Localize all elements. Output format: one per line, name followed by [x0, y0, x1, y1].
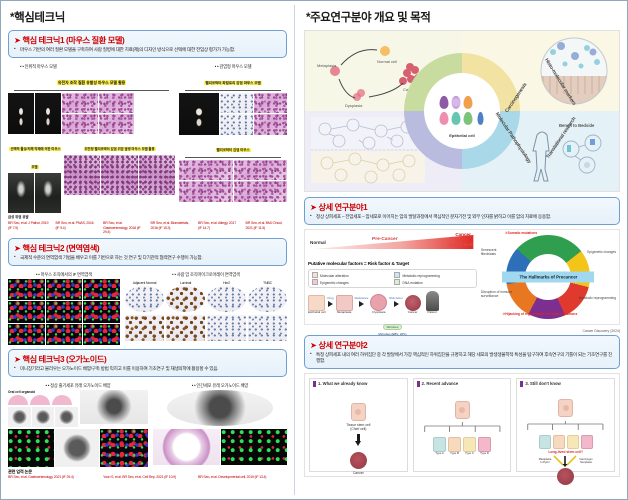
tma-zoom [248, 315, 287, 341]
histology-tile [254, 114, 287, 135]
tma-label-2: Her2 [207, 281, 246, 285]
epithelial-cell [477, 112, 483, 125]
epithelial-cell [440, 112, 449, 125]
tma-label-0: Adjacent Normal [125, 281, 164, 285]
bullet-arrow-icon: ➤ [14, 355, 20, 364]
progression-risk-label: Cancer Risk [449, 242, 473, 247]
step-label: Cancer [405, 311, 421, 315]
microbe-label: Microbes (EBV, HPs) [308, 333, 477, 337]
patient-icon [426, 291, 439, 311]
histology-tile [234, 181, 287, 202]
histology-tile [101, 155, 137, 195]
step-label: Patient [426, 311, 439, 315]
epithelial-cell [452, 112, 461, 125]
subtype-cell-icon [553, 435, 565, 449]
if-micrograph [83, 279, 120, 300]
bullet-arrow-icon: ➤ [310, 341, 316, 350]
organoid-histology [153, 429, 220, 465]
subtype-cell-icon [567, 435, 579, 449]
slide-root: *핵심테크닉 ➤핵심 테크닉1 (마우스 질환 모델) 마우스 기반의 여러 질… [0, 0, 628, 500]
cancer-cell-icon [350, 452, 367, 469]
panel1-top-label: Tissue stem cell(Chief cell) [310, 423, 407, 432]
if-micrograph [83, 301, 120, 322]
step-arrow-label: Drug [328, 297, 334, 300]
tech1-subcaption-1: • 감염형 마우스 모델 [179, 64, 287, 70]
subtype-cell-icon [433, 437, 446, 452]
section-detail2-header: ➤상세 연구분야2 특정 상피세포 내의 여러 하위집단 중 각 발달에서 가장… [304, 335, 620, 369]
organoid-large-brightfield [80, 390, 148, 424]
right-column: *주요연구분야 개요 및 목적 Normal cell [295, 1, 627, 499]
wheel-label-senescent-fibroblasts: Senescent fibroblasts [481, 249, 511, 257]
tech1-subcaption-0: • 인위적 마우스 모델 [20, 64, 175, 70]
mouse-photo [179, 93, 219, 135]
if-micrograph [8, 279, 45, 300]
tech1-references: BR Seo, et al. J Pathol, 2019 (IF 7.9) B… [8, 221, 287, 236]
tech1-histology-grid-right [220, 93, 287, 135]
if-micrograph [8, 301, 45, 322]
organoid-if-image [100, 429, 148, 467]
research-concept-figure: Normal cell Metaplasia Dysplasia Cancer [304, 30, 620, 192]
panel-still-dont-know: 3. Still don't know Long-lived stem cell… [516, 378, 615, 472]
reference-item: BR Seo, et al. Gastroenterology, 2021 (I… [8, 475, 97, 480]
reference-item: BR Seo, et al. Allergy, 2017 (IF 14.7) [198, 221, 240, 236]
step-arrow-label: Resistance [355, 297, 369, 300]
if-micrograph [8, 324, 45, 345]
wheel-label-metabolic-reprogramming: Metabolic reprogramming [579, 297, 616, 301]
wheel-label-disruption-immune: Disruption of immune surveillance [481, 291, 515, 299]
subtype-cell-icon [539, 435, 551, 449]
reference-item: BR Seo, et al. Gastroenterology, 2018 (I… [103, 221, 145, 236]
histology-tile [179, 181, 232, 202]
divider-line [14, 90, 169, 91]
bullet-arrow-icon: ➤ [14, 36, 20, 45]
stemcell-three-panel-figure: 1. What we already know Tissue stem cell… [304, 373, 620, 477]
legend-swatch-epigenetic-changes [312, 279, 318, 285]
tissue-stem-cell-icon [558, 399, 573, 417]
section-tech2-body: 국제적 수준의 면역염색 기법을 배우고 이를 기반으로 하는 것 연구 및 다… [14, 255, 281, 262]
epithelial-cell-label: Epithelial cell [449, 133, 475, 138]
precancer-subtitle: Putative molecular factors = Risk factor… [308, 262, 477, 267]
section-detail2-body: 특정 상피세포 내의 여러 하위집단 중 각 발달에서 가장 핵심적인 하위집단… [310, 352, 614, 365]
section-tech1-heading: ➤핵심 테크닉1 (마우스 질환 모델) [14, 34, 281, 46]
xray-image [35, 173, 61, 213]
subtype-cell-icon [463, 437, 476, 452]
right-panel-title: *주요연구분야 개요 및 목적 [306, 9, 620, 25]
section-tech2-header: ➤핵심 테크닉2 (면역염색) 국제적 수준의 면역염색 기법을 배우고 이를 … [8, 238, 287, 266]
branch-connector-icon [414, 422, 511, 432]
tma-core [125, 286, 164, 312]
branch-connector-icon [517, 421, 614, 430]
tech1-image-row-top [8, 93, 175, 134]
cancer-cell-icon [557, 468, 574, 485]
svg-text:Metaplasia: Metaplasia [317, 63, 337, 68]
progression-label-precancer: Pre-Cancer [372, 237, 398, 242]
tma-zoom [166, 315, 205, 341]
arrow-down-icon [355, 441, 361, 446]
histology-tile [99, 93, 135, 113]
arrow-right-icon [394, 301, 399, 307]
section-tech3-header: ➤핵심 테크닉3 (오가노이드) 미니장기라고 불리우는 오가노이드 배양/구축… [8, 349, 287, 377]
precancer-figure: Normal Pre-Cancer Cancer Cancer Risk Put… [304, 229, 620, 325]
histology-tile [254, 93, 287, 114]
reference-header: 관련 업적 논문 [8, 469, 287, 475]
reference-item: BR Seo, et al. Developmental cell, 2019 … [198, 475, 287, 480]
section-detail1-header: ➤상세 연구분야1 정상 상피세포 – 전암세포 – 암세포로 이어지는 암의 … [304, 197, 620, 225]
converging-arrows-icon [552, 455, 578, 467]
organoid-brightfield [55, 407, 78, 427]
section-tech1-body: 마우스 기반의 여러 질환 모델을 구축하여 사람 질병에 대한 치료(제)의 … [14, 47, 281, 54]
panel-recent-advance: 2. Recent advance Type A Typ [413, 378, 512, 472]
tissue-section-circle-icon [537, 36, 611, 106]
organoid-if-image [8, 429, 54, 467]
if-micrograph [46, 301, 83, 322]
histology-tile [99, 114, 135, 134]
mouse-photo [35, 93, 61, 134]
tissue-stem-cell-icon [455, 401, 470, 419]
reference-item: BR Seo, et al. BMJ Oncol, 2021 (IF 11.5) [246, 221, 288, 236]
precancer-legend: Molecular alteration Metabolic reprogram… [308, 269, 477, 288]
organoid-schematic-label: Oral cell organoid [8, 390, 78, 394]
organoid-step-icon [8, 395, 28, 405]
section-detail1-heading: ➤상세 연구분야1 [310, 201, 614, 213]
tech1-bottom-left-label: 급성 위염 유발 [8, 214, 175, 219]
panel-title: 1. What we already know [318, 381, 367, 386]
organoid-step-icon [52, 395, 72, 405]
legend-swatch-molecular-alteration [312, 272, 318, 278]
histology-tile [220, 114, 253, 135]
left-column: *핵심테크닉 ➤핵심 테크닉1 (마우스 질환 모델) 마우스 기반의 여러 질… [1, 1, 294, 499]
legend-item: Epigenetic changes [312, 279, 390, 285]
bullet-arrow-icon: ➤ [14, 244, 20, 253]
bullet-arrow-icon: ➤ [310, 203, 316, 212]
tma-core [207, 286, 246, 312]
panel-title: 3. Still don't know [525, 381, 560, 386]
step-cell-metaplasia [336, 295, 353, 311]
mouse-photo [8, 93, 34, 134]
progression-steps: Epithelial cell Drug Metaplasia Resistan… [308, 291, 477, 315]
if-micrograph [46, 324, 83, 345]
reference-item: BR Seo, et al. J Pathol, 2019 (IF 7.9) [8, 221, 50, 236]
panel-what-we-know: 1. What we already know Tissue stem cell… [309, 378, 408, 472]
tma-label-3: TNBC [248, 281, 287, 285]
section-detail2-heading: ➤상세 연구분야2 [310, 339, 614, 351]
epithelial-cell [464, 96, 473, 109]
progression-label-cancer: Cancer [455, 232, 471, 237]
section-detail1-body: 정상 상피세포 – 전암세포 – 암세포로 이어지는 암의 발달과정에서 핵심적… [310, 214, 614, 221]
histology-tile [64, 155, 100, 195]
legend-item: DNA mutation [394, 279, 472, 285]
step-cell-dysplasia [370, 294, 387, 311]
tissue-stem-cell-icon [351, 403, 366, 421]
tech1-caption-hp: 헬리코박터 감염 마우스 [216, 148, 251, 152]
panel-title-row: 1. What we already know [310, 379, 407, 389]
arrow-right-icon [328, 301, 333, 307]
tech2-subcaption-0: • 마우스 조직에서의 IF 면역염색 [8, 272, 120, 278]
tma-zoom [207, 315, 246, 341]
subtype-label: Type A [433, 452, 446, 455]
step-arrow-label: Risk factor [389, 297, 402, 300]
epithelial-cell-group [440, 96, 485, 125]
wheel-label-somatic-mutations: ①Somatic mutations [505, 232, 537, 236]
svg-text:Dysplasia: Dysplasia [345, 103, 363, 108]
progression-label-normal: Normal [310, 240, 326, 245]
left-panel-title: *핵심테크닉 [10, 9, 287, 25]
section-tech1-header: ➤핵심 테크닉1 (마우스 질환 모델) 마우스 기반의 여러 질환 모델을 구… [8, 30, 287, 58]
step-label: Dysplasia [370, 311, 387, 315]
tech2-subcaption-1: • 사람 암 조직마이크로어레이 면역염색 [125, 272, 287, 278]
microbe-badge: Microbes [383, 324, 403, 330]
histology-tile [62, 114, 98, 134]
histology-tile [62, 93, 98, 113]
step-cell-epithelial [308, 295, 325, 311]
subtype-cell-icon [581, 435, 593, 449]
legend-swatch-metabolic-reprogramming [394, 272, 400, 278]
tech1-histology-grid [62, 93, 134, 134]
panel-marker-icon [520, 381, 523, 387]
divider-line [185, 90, 281, 91]
tech1-image-caption-0: 선택적 활성/저해 약제에 의한 마우스 모델 [9, 147, 60, 169]
organoid-step-icon [30, 395, 50, 405]
section-tech3-body: 미니장기라고 불리우는 오가노이드 배양/구축 방법 익히고 이를 이용하여 기… [14, 366, 281, 373]
epithelial-cell [476, 96, 485, 109]
epithelial-cell [440, 96, 449, 109]
panel-title: 2. Recent advance [422, 381, 459, 386]
histology-tile [220, 93, 253, 114]
tech1-highlight-0: 유전자 조작 질환 유발성 마우스 모델 활용 [57, 80, 126, 85]
organoid-brightfield [32, 407, 55, 427]
subtype-label: Type B [448, 452, 461, 455]
step-label: Epithelial cell [308, 311, 326, 315]
tech3-subcaption-1: • 인간세포 유래 오가노이드 배양 [153, 383, 287, 389]
panel3-question-label: Long-lived stem cell? [517, 450, 614, 454]
subtype-label: Type D [478, 452, 491, 455]
organoid-large-sphere [167, 390, 273, 426]
tma-label-1: Luminal [166, 281, 205, 285]
tech1-histology-grid-bottom [179, 160, 287, 202]
reference-item: BR Seo, et al. PNAS, 2016 (IF 9.4) [56, 221, 98, 236]
wheel-label-epigenetic-changes: Epigenetic changes [587, 251, 616, 255]
organoid-if-image [221, 429, 288, 465]
if-micrograph [83, 324, 120, 345]
panel3-side-label: H.Pylori [539, 461, 552, 464]
subtype-cell-icon [478, 437, 491, 452]
panel-marker-icon [313, 381, 316, 387]
hallmarks-wheel-title-band: The Hallmarks of Precancer [502, 271, 594, 282]
arrow-right-icon [359, 301, 364, 307]
panel1-bottom-label: Cancer [310, 471, 407, 475]
section-tech3-heading: ➤핵심 테크닉3 (오가노이드) [14, 353, 281, 365]
histology-tile [234, 160, 287, 181]
svg-text:Normal cell: Normal cell [377, 59, 397, 64]
if-stain-grid [8, 279, 120, 345]
panel-title-row: 2. Recent advance [414, 379, 511, 389]
step-cell-cancer [405, 295, 421, 311]
legend-item: Metabolic reprogramming [394, 272, 472, 278]
reference-item: BR Seo, et al. Biomaterials, 2016 (IF 15… [151, 221, 193, 236]
step-label: Metaplasia [336, 311, 353, 315]
divider-line [185, 157, 281, 158]
histology-tile [179, 160, 232, 181]
organoid-brightfield [8, 407, 31, 427]
legend-swatch-dna-mutation [394, 279, 400, 285]
tma-core [248, 286, 287, 312]
arrow-down-icon [357, 434, 360, 441]
subtype-label: Type C [463, 452, 476, 455]
panel-marker-icon [417, 381, 420, 387]
tma-zoom [125, 315, 164, 341]
hallmarks-wheel: The Hallmarks of Precancer [506, 235, 590, 319]
tech1-image-caption-1: 위전정 헬리코박터 감염 위암 발생 마우스 모델 활용 [84, 147, 156, 151]
epithelial-cell [452, 96, 461, 109]
wheel-label-hijacking-regenerative: ②Hijacking of regenerative cell state tr… [485, 313, 595, 317]
tech3-subcaption-0: • 정상 줄기세포 유래 오가노이드 배양 [8, 383, 148, 389]
xray-image [8, 173, 34, 213]
tech3-references: 관련 업적 논문 BR Seo, et al. Gastroenterology… [8, 469, 287, 481]
reference-item: Yoon S, et al. BR Seo, et al. Cell Rep, … [103, 475, 192, 480]
tma-core [166, 286, 205, 312]
legend-item: Molecular alteration [312, 272, 390, 278]
histology-tile [139, 155, 175, 195]
subtype-cell-icon [448, 437, 461, 452]
section-tech2-heading: ➤핵심 테크닉2 (면역염색) [14, 242, 281, 254]
hallmarks-wheel-title: The Hallmarks of Precancer [520, 274, 578, 279]
if-micrograph [46, 279, 83, 300]
epithelial-cell [464, 112, 473, 125]
organoid-phase-image [55, 429, 99, 467]
panel-title-row: 3. Still don't know [517, 379, 614, 389]
panel3-side-label: Neoplasia [579, 461, 592, 464]
tech1-highlight-1: 헬리코박터 파일로리 감염 마우스 모델 [204, 81, 261, 85]
